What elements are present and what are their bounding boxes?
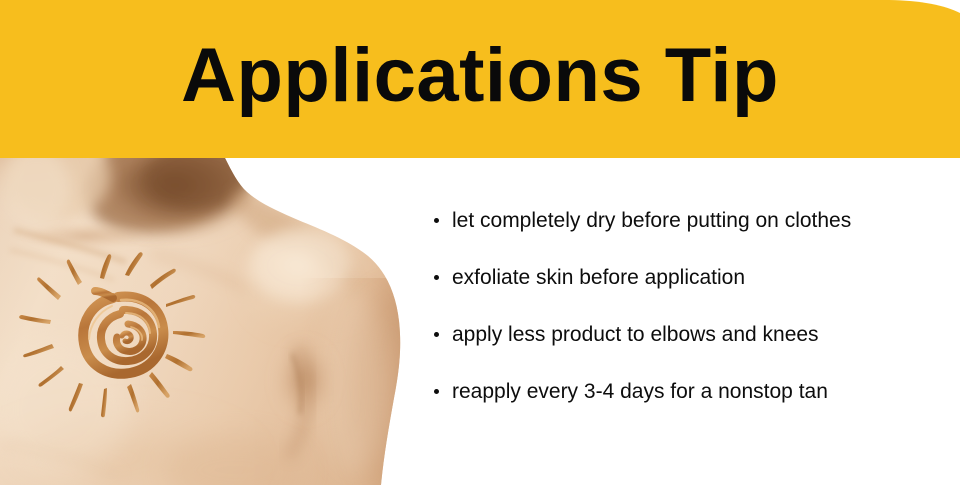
page-title: Applications Tip — [0, 0, 960, 158]
list-item: exfoliate skin before application — [430, 267, 950, 288]
list-item: reapply every 3-4 days for a nonstop tan — [430, 381, 950, 402]
list-item: apply less product to elbows and knees — [430, 324, 950, 345]
tanning-photo-illustration — [0, 158, 420, 485]
tips-list: let completely dry before putting on clo… — [430, 210, 950, 402]
tip-text: reapply every 3-4 days for a nonstop tan — [452, 380, 828, 403]
tanning-photo — [0, 158, 420, 485]
bullet-icon — [434, 218, 439, 223]
list-item: let completely dry before putting on clo… — [430, 210, 950, 231]
applications-tip-banner: Applications Tip — [0, 0, 960, 485]
bullet-icon — [434, 389, 439, 394]
tip-text: apply less product to elbows and knees — [452, 323, 819, 346]
tip-text: let completely dry before putting on clo… — [452, 209, 851, 232]
bullet-icon — [434, 332, 439, 337]
tip-text: exfoliate skin before application — [452, 266, 745, 289]
header-band: Applications Tip — [0, 0, 960, 158]
bullet-icon — [434, 275, 439, 280]
